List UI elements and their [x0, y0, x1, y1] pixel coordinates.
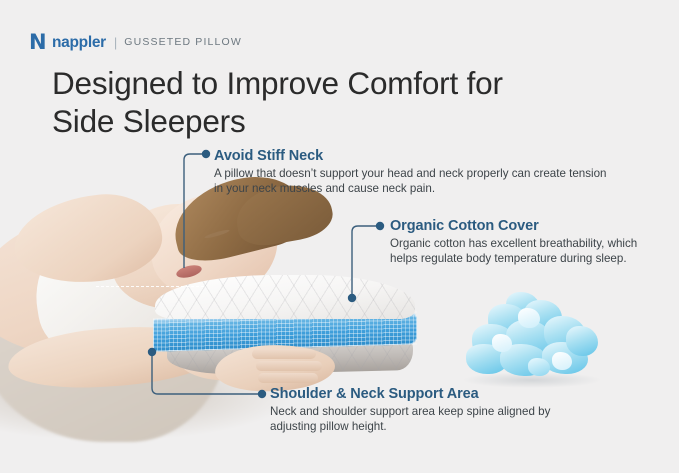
connector-line-avoid-stiff-neck — [184, 154, 206, 268]
connector-dot-organic-cotton-cover — [376, 222, 384, 230]
callout-body: A pillow that doesn’t support your head … — [214, 167, 614, 196]
infographic-canvas: N nappler | GUSSETED PILLOW Designed to … — [0, 0, 679, 473]
connector-line-organic-cotton-cover — [352, 226, 380, 296]
connector-line-shoulder-neck-support — [152, 352, 262, 394]
callout-organic-cotton-cover: Organic Cotton Cover Organic cotton has … — [390, 217, 660, 266]
connector-dot-avoid-stiff-neck — [202, 150, 210, 158]
callout-title: Shoulder & Neck Support Area — [270, 385, 590, 403]
callout-body: Neck and shoulder support area keep spin… — [270, 405, 590, 434]
anchor-dot-shoulder-neck-support — [148, 348, 156, 356]
callout-avoid-stiff-neck: Avoid Stiff Neck A pillow that doesn’t s… — [214, 147, 614, 196]
callout-title: Avoid Stiff Neck — [214, 147, 614, 165]
callout-body: Organic cotton has excellent breathabili… — [390, 237, 660, 266]
callout-shoulder-neck-support: Shoulder & Neck Support Area Neck and sh… — [270, 385, 590, 434]
connector-dot-shoulder-neck-support — [258, 390, 266, 398]
anchor-dot-organic-cotton-cover — [348, 294, 356, 302]
callout-title: Organic Cotton Cover — [390, 217, 660, 235]
